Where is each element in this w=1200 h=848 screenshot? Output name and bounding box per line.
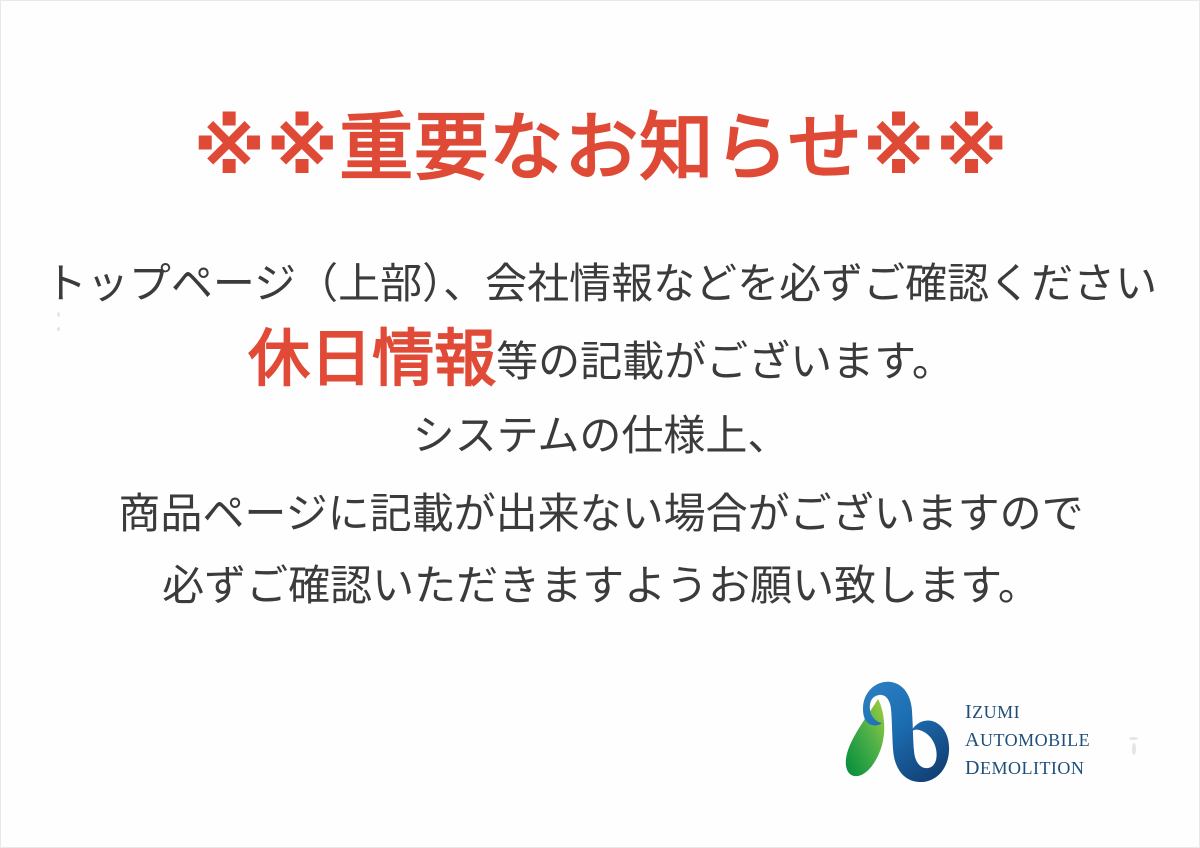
holiday-info-highlight: 休日情報 [248,325,496,394]
izumi-swirl-leaf-mark [837,675,955,793]
logo-word-demolition: Demolition [965,752,1090,780]
scan-artifact [1129,737,1138,740]
notice-line-1: トップページ（上部）、会社情報などを必ずご確認ください [1,259,1200,309]
notice-body: トップページ（上部）、会社情報などを必ずご確認ください 休日情報等の記載がござい… [1,259,1200,611]
notice-line-2-rest: 等の記載がございます。 [496,338,954,385]
page-title: ※※重要なお知らせ※※ [1,105,1200,191]
logo-word-izumi: Izumi [965,696,1090,724]
logo-wordmark: Izumi Automobile Demolition [965,688,1090,780]
notice-line-3: システムの仕様上、 [1,411,1200,461]
notice-line-4: 商品ページに記載が出来ない場合がございますので [1,489,1200,539]
scan-artifact [1132,743,1136,755]
notice-line-5: 必ずご確認いただきますようお願い致します。 [1,561,1200,611]
notice-image: ※※重要なお知らせ※※ トップページ（上部）、会社情報などを必ずご確認ください … [0,0,1200,848]
logo-word-automobile: Automobile [965,724,1090,752]
company-logo: Izumi Automobile Demolition [837,673,1127,795]
notice-line-2: 休日情報等の記載がございます。 [1,335,1200,387]
